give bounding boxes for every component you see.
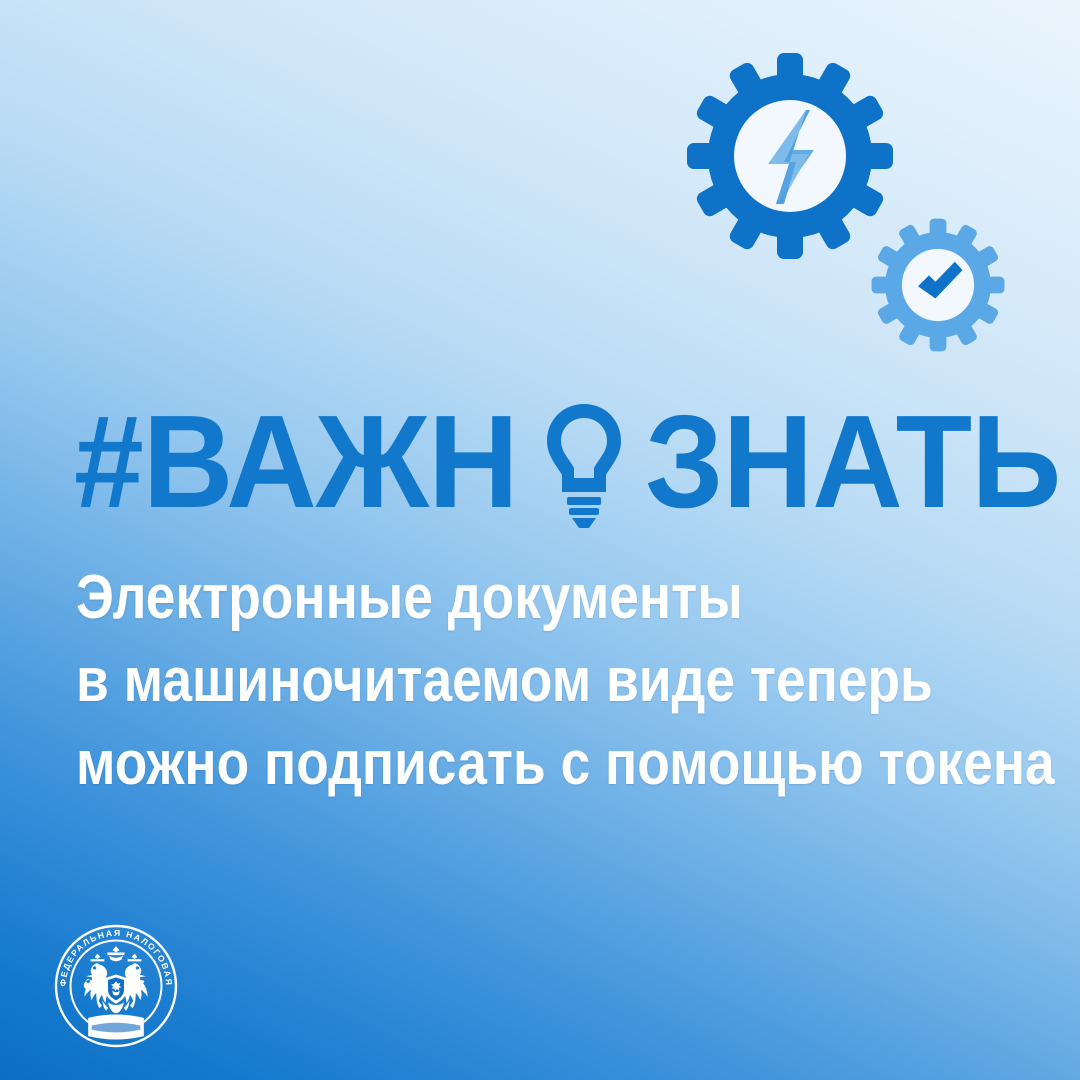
double-headed-eagle-icon bbox=[84, 946, 148, 1013]
headline-hashtag: # bbox=[74, 388, 143, 535]
gear-cluster bbox=[666, 44, 1036, 374]
subtitle-line-2: в машиночитаемом виде теперь bbox=[76, 639, 927, 722]
headline-word-before-bulb: ВАЖН bbox=[143, 388, 518, 535]
subtitle: Электронные документы в машиночитаемом в… bbox=[76, 556, 1066, 805]
headline-word-after: ЗНАТЬ bbox=[645, 396, 1060, 528]
lightbulb-icon bbox=[541, 396, 627, 528]
fns-emblem: ФЕДЕРАЛЬНАЯ НАЛОГОВАЯ СЛУЖБА bbox=[52, 922, 180, 1050]
gear-with-lightning-bolt-icon bbox=[687, 53, 893, 259]
headline: #ВАЖН ЗНАТЬ bbox=[74, 392, 1080, 532]
gear-with-checkmark-icon bbox=[872, 219, 1005, 352]
headline-hashtag-and-word: #ВАЖН bbox=[74, 396, 518, 528]
poster-canvas: #ВАЖН ЗНАТЬ Электронные документы в маши… bbox=[0, 0, 1080, 1080]
russian-tricolor-ribbon bbox=[89, 1015, 143, 1039]
subtitle-line-1: Электронные документы bbox=[76, 556, 927, 639]
subtitle-line-3: можно подписать с помощью токена bbox=[76, 722, 927, 805]
